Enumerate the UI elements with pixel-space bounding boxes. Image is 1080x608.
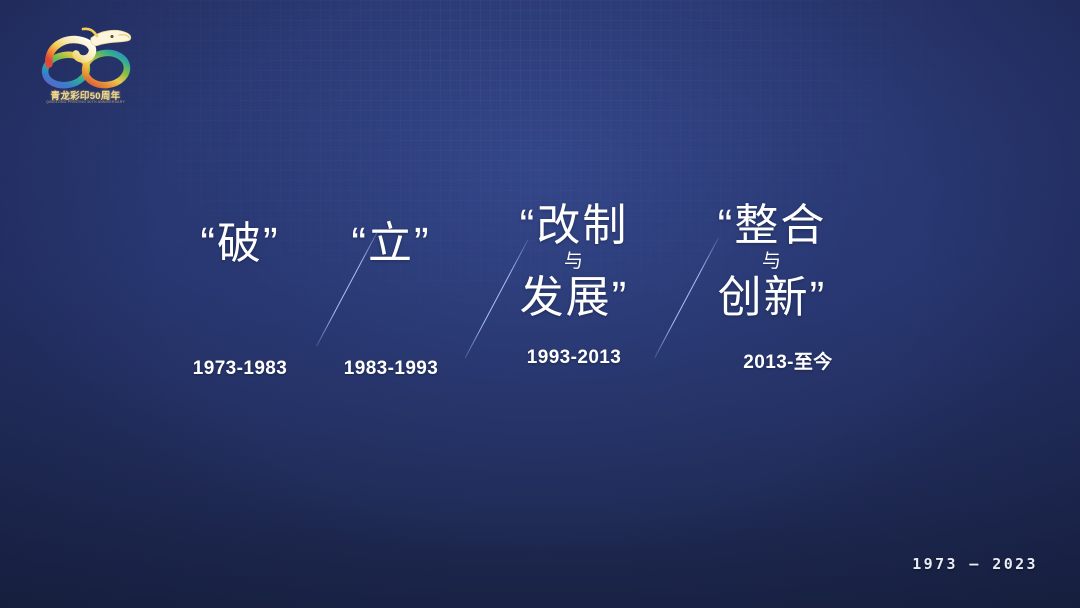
phase-title-line-1: “改制	[478, 202, 670, 250]
open-quote: “	[718, 201, 735, 250]
phase-year-range: 1973-1983	[160, 358, 320, 380]
phase-year-range: 2013-至今	[692, 347, 884, 374]
footer-year-range: 1973 — 2023	[912, 555, 1038, 573]
phase-title-line1: 破	[217, 219, 263, 268]
phase-year-range: 1993-2013	[478, 347, 670, 369]
phase-title-line-2: 创新”	[676, 274, 868, 322]
anniversary-logo: 青龙彩印50周年 QINGLONG PRINTING 50TH ANNIVERS…	[33, 20, 138, 112]
phase-title-line1: 立	[368, 219, 414, 268]
phase-title: “立”	[316, 218, 466, 270]
close-quote: ”	[414, 219, 431, 268]
timeline: “破” 1973-1983 “立” 1983-1993 “改制 与 发展” 19…	[0, 196, 1080, 376]
close-quote: ”	[810, 273, 827, 322]
open-quote: “	[200, 219, 217, 268]
timeline-phase-li: “立” 1983-1993	[316, 218, 466, 270]
phase-title-line-2: 发展”	[478, 274, 670, 322]
phase-year-range: 1983-1993	[316, 358, 466, 380]
slide-canvas: 青龙彩印50周年 QINGLONG PRINTING 50TH ANNIVERS…	[0, 0, 1080, 608]
phase-title-line2: 创新	[718, 273, 810, 322]
open-quote: “	[351, 219, 368, 268]
phase-title-line2: 发展	[520, 273, 612, 322]
open-quote: “	[520, 201, 537, 250]
phase-title-line1: 改制	[536, 201, 628, 250]
phase-title-line1: 整合	[734, 201, 826, 250]
logo-subcaption: QINGLONG PRINTING 50TH ANNIVERSARY	[33, 100, 138, 104]
timeline-phase-reform-development: “改制 与 发展” 1993-2013	[478, 202, 670, 322]
close-quote: ”	[263, 219, 280, 268]
phase-conjunction: 与	[478, 250, 670, 274]
phase-title-line-1: “整合	[676, 202, 868, 250]
close-quote: ”	[612, 273, 629, 322]
dragon-50-icon	[33, 20, 138, 90]
timeline-phase-po: “破” 1973-1983	[160, 218, 320, 270]
phase-title: “破”	[160, 218, 320, 270]
